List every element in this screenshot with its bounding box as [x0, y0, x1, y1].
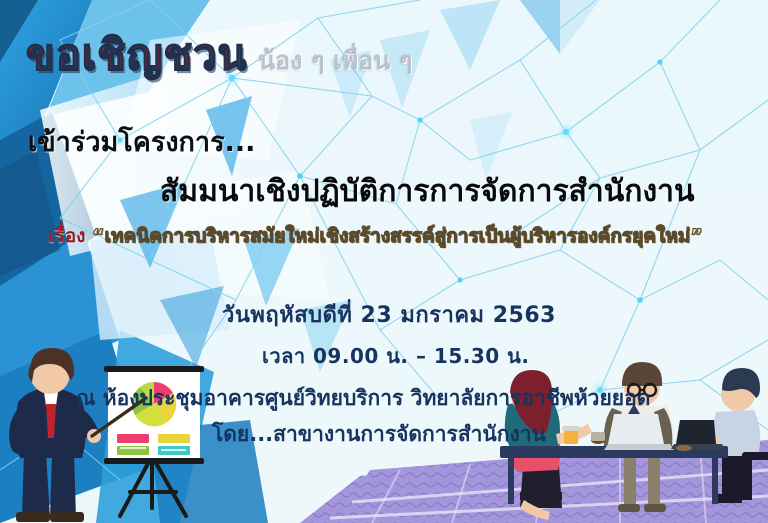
topic-line: เรื่อง “เทคนิคการบริหารสมัยใหม่เชิงสร้าง… — [48, 221, 703, 251]
event-time: เวลา 09.00 น. – 15.30 น. — [262, 340, 529, 372]
event-date: วันพฤหัสบดีที่ 23 มกราคม 2563 — [222, 297, 556, 332]
join-project-line: เข้าร่วมโครงการ... — [28, 120, 255, 163]
poster-canvas: ขอเชิญชวน น้อง ๆ เพื่อน ๆ เข้าร่วมโครงกา… — [0, 0, 768, 523]
event-venue: ณ ห้องประชุมอาคารศูนย์วิทยบริการ วิทยาลั… — [76, 382, 650, 415]
seminar-title: สัมมนาเชิงปฏิบัติการการจัดการสำนักงาน — [160, 168, 694, 215]
headline-invite: ขอเชิญชวน — [26, 22, 247, 88]
topic-label: เรื่อง — [48, 225, 85, 247]
topic-quote: “เทคนิคการบริหารสมัยใหม่เชิงสร้างสรรค์สู… — [92, 225, 703, 247]
headline-sub-friends: น้อง ๆ เพื่อน ๆ — [258, 41, 412, 81]
event-organizer: โดย...สาขางานการจัดการสำนักงาน — [212, 418, 546, 451]
